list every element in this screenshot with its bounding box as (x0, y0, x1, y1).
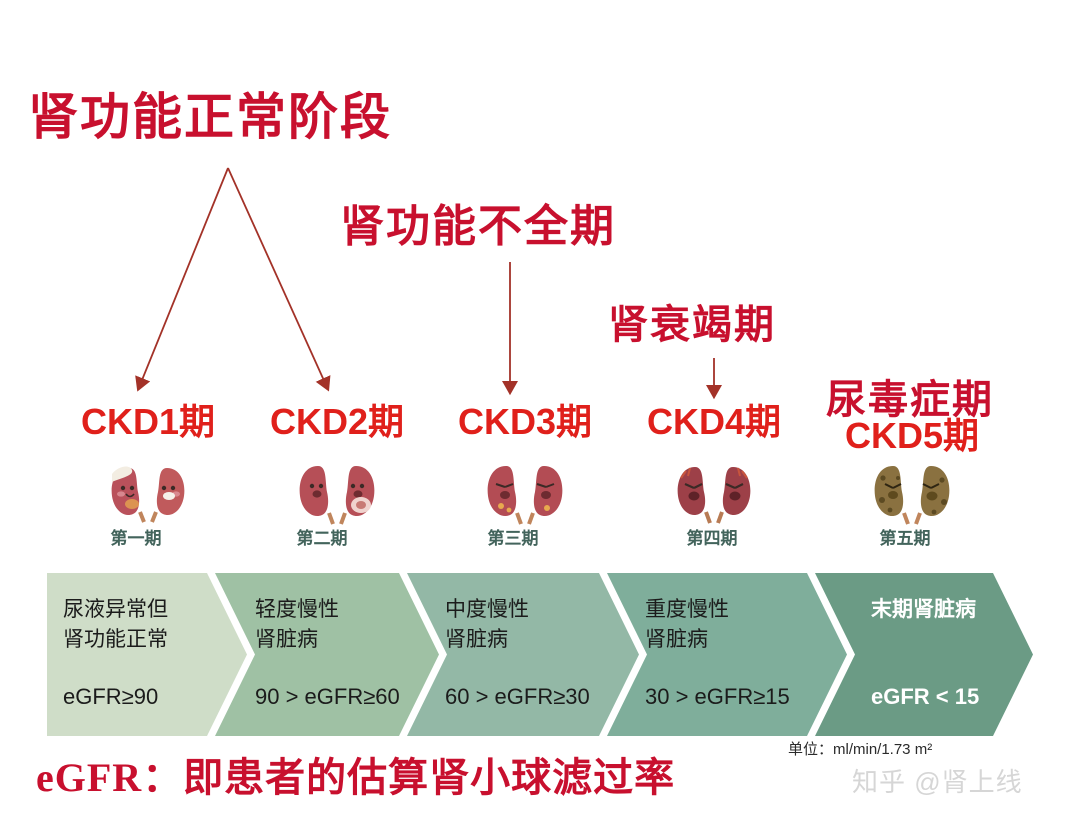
bottom-caption: eGFR：即患者的估算肾小球滤过率 (36, 758, 675, 798)
phase-label-2: 第二期 (297, 530, 348, 547)
chevron-stage-1 (47, 573, 247, 736)
phase-label-5: 第五期 (880, 530, 931, 547)
watermark: 知乎 @肾上线 (852, 762, 1023, 799)
ckd-stage-label-1: CKD1期 (81, 404, 215, 440)
chevron-stage-4 (607, 573, 847, 736)
kidney-pair-healthy-bandaged-icon (88, 448, 208, 528)
kidney-pair-severe-icon (654, 448, 774, 528)
chevron-stage-5 (815, 573, 1033, 736)
stage-chevron-band (47, 573, 1033, 736)
chevron-stage-2 (215, 573, 439, 736)
heading-uremia: 尿毒症期 (826, 380, 994, 420)
kidney-pair-moderate-icon (465, 448, 585, 528)
ckd-stage-label-4: CKD4期 (647, 404, 781, 440)
kidney-pair-end-stage-icon (852, 448, 972, 528)
infographic-canvas: 肾功能正常阶段 肾功能不全期 肾衰竭期 尿毒症期 CKD1期 CKD2期 CKD… (0, 0, 1080, 815)
heading-normal-function: 肾功能正常阶段 (28, 92, 392, 142)
heading-renal-insufficiency: 肾功能不全期 (340, 205, 616, 249)
heading-renal-failure: 肾衰竭期 (608, 305, 776, 345)
unit-note: 单位：ml/min/1.73 m² (788, 738, 932, 759)
phase-label-1: 第一期 (111, 530, 162, 547)
chevron-stage-3 (407, 573, 639, 736)
phase-label-4: 第四期 (687, 530, 738, 547)
ckd-stage-label-3: CKD3期 (458, 404, 592, 440)
ckd-stage-label-2: CKD2期 (270, 404, 404, 440)
kidney-pair-mild-icon (277, 448, 397, 528)
phase-label-3: 第三期 (488, 530, 539, 547)
